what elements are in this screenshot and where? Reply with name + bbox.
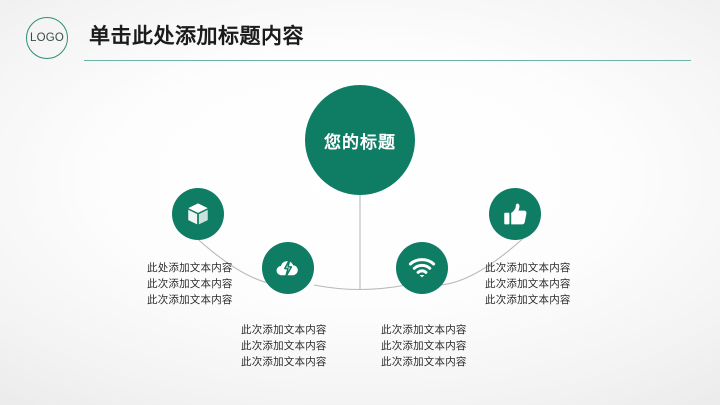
connector-arc-bottom [314,285,406,290]
node-3-text-line-2: 此次添加文本内容 [381,338,467,354]
cube-icon [185,201,211,227]
node-3-wifi[interactable] [396,242,448,294]
node-4-text-line-1: 此次添加文本内容 [485,260,571,276]
node-4-text-line-2: 此次添加文本内容 [485,276,571,292]
node-2-cloud-lightning[interactable] [262,242,314,294]
connector-lines [0,0,720,405]
node-1-text-line-1: 此处添加文本内容 [147,260,233,276]
node-4-text-block: 此次添加文本内容 此次添加文本内容 此次添加文本内容 [485,260,571,308]
thumbs-up-icon [502,201,529,228]
node-3-text-block: 此次添加文本内容 此次添加文本内容 此次添加文本内容 [381,322,467,370]
node-3-text-line-3: 此次添加文本内容 [381,354,467,370]
node-1-cube[interactable] [172,188,224,240]
node-1-text-line-2: 此次添加文本内容 [147,276,233,292]
wifi-icon [408,254,436,282]
cloud-lightning-icon [274,254,302,282]
node-1-text-line-3: 此次添加文本内容 [147,292,233,308]
node-2-text-line-3: 此次添加文本内容 [241,354,327,370]
slide-canvas: LOGO 单击此处添加标题内容 您的标题 [0,0,720,405]
node-4-thumbs-up[interactable] [489,188,541,240]
hub-label: 您的标题 [324,128,396,153]
node-4-text-line-3: 此次添加文本内容 [485,292,571,308]
node-3-text-line-1: 此次添加文本内容 [381,322,467,338]
hub-and-spoke-diagram: 您的标题 [0,0,720,405]
node-2-text-line-2: 此次添加文本内容 [241,338,327,354]
node-2-text-block: 此次添加文本内容 此次添加文本内容 此次添加文本内容 [241,322,327,370]
hub-node[interactable]: 您的标题 [305,85,415,195]
node-1-text-block: 此处添加文本内容 此次添加文本内容 此次添加文本内容 [147,260,233,308]
node-2-text-line-1: 此次添加文本内容 [241,322,327,338]
